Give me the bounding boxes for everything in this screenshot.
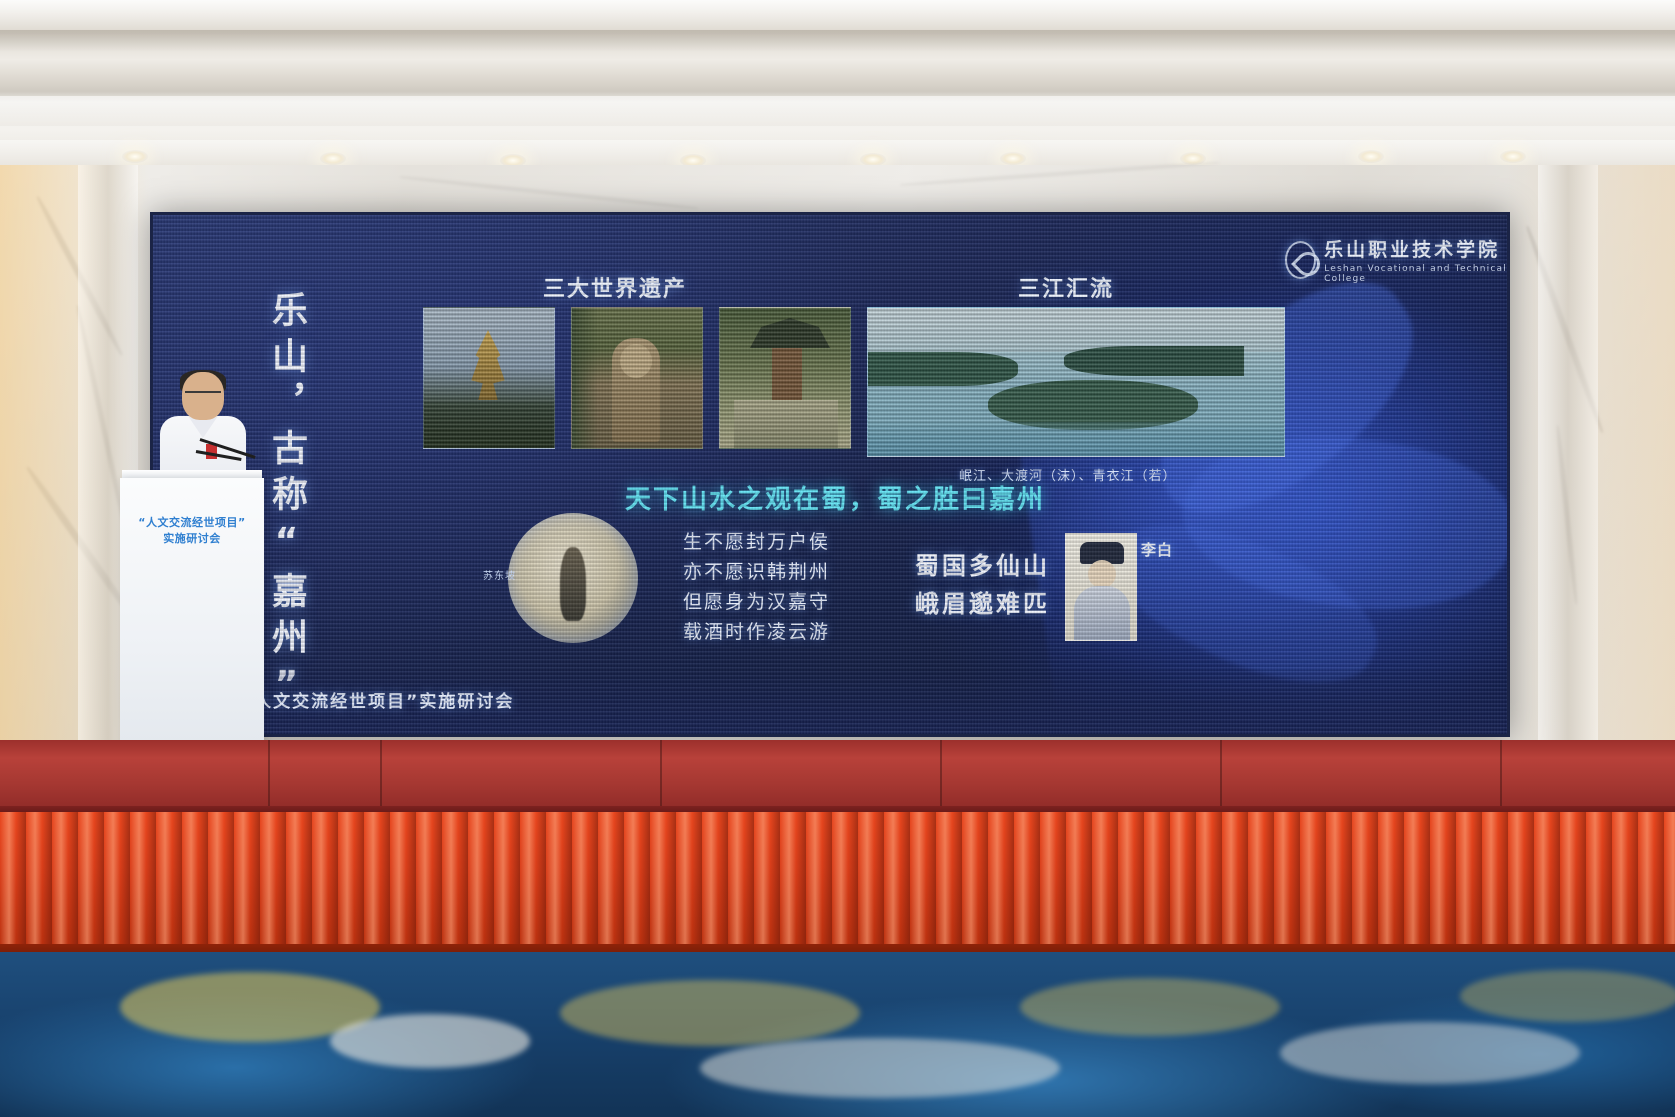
poem-line-2: 亦不愿识韩荆州 <box>683 557 830 587</box>
skirt-pleat <box>910 812 936 952</box>
skirt-pleat <box>936 812 962 952</box>
skirt-pleat <box>1274 812 1300 952</box>
carpet <box>0 952 1675 1117</box>
skirt-pleat <box>572 812 598 952</box>
slide-highlight-quote: 天下山水之观在蜀，蜀之胜曰嘉州 <box>625 479 1095 516</box>
skirt-pleat <box>234 812 260 952</box>
skirt-pleat <box>208 812 234 952</box>
skirt-pleat <box>1482 812 1508 952</box>
skirt-pleat <box>1248 812 1274 952</box>
skirt-pleat <box>1560 812 1586 952</box>
skirt-pleat <box>78 812 104 952</box>
ceiling-light <box>1000 152 1026 165</box>
skirt-pleat <box>1040 812 1066 952</box>
college-logo: 乐山职业技术学院 Leshan Vocational and Technical… <box>1285 235 1507 284</box>
skirt-pleat <box>1586 812 1612 952</box>
skirt-pleat <box>52 812 78 952</box>
skirt-pleat <box>156 812 182 952</box>
ceiling-light <box>1358 150 1384 163</box>
skirt-pleat <box>1352 812 1378 952</box>
couplet-block: 蜀国多仙山 峨眉邈难匹 <box>915 547 1050 623</box>
poem-line-1: 生不愿封万户侯 <box>683 527 830 557</box>
poem-block: 生不愿封万户侯 亦不愿识韩荆州 但愿身为汉嘉守 载酒时作凌云游 <box>683 527 830 647</box>
skirt-pleat <box>650 812 676 952</box>
skirt-pleat <box>130 812 156 952</box>
skirt-pleat <box>806 812 832 952</box>
portrait-left-label: 苏东坡 <box>483 567 516 582</box>
skirt-pleat <box>1638 812 1664 952</box>
skirt-pleat <box>702 812 728 952</box>
skirt-pleat <box>1378 812 1404 952</box>
couplet-line-2: 峨眉邈难匹 <box>915 585 1050 623</box>
skirt-pleat <box>676 812 702 952</box>
wall-pillar-right <box>1538 165 1598 765</box>
skirt-pleat <box>1456 812 1482 952</box>
skirt-pleat <box>1066 812 1092 952</box>
skirt-pleat <box>1092 812 1118 952</box>
skirt-pleat <box>1534 812 1560 952</box>
podium-sign: “人文交流经世项目” 实施研讨会 <box>137 515 247 547</box>
logo-chinese-name: 乐山职业技术学院 <box>1324 235 1507 262</box>
skirt-pleat <box>598 812 624 952</box>
skirt-pleat <box>416 812 442 952</box>
li-bai-robe <box>1074 586 1130 641</box>
poem-line-4: 载酒时作凌云游 <box>683 617 830 647</box>
photo-emei-golden-summit <box>423 307 555 449</box>
skirt-pleat <box>858 812 884 952</box>
skirt-pleat <box>1430 812 1456 952</box>
ceiling-light <box>320 152 346 165</box>
skirt-pleat <box>988 812 1014 952</box>
skirt-pleat <box>728 812 754 952</box>
portrait-li-bai <box>1065 533 1137 641</box>
ceiling-light <box>122 150 148 163</box>
skirt-pleat <box>338 812 364 952</box>
skirt-pleat <box>1404 812 1430 952</box>
stage-skirt <box>0 812 1675 952</box>
skirt-pleat <box>312 812 338 952</box>
skirt-pleat <box>832 812 858 952</box>
skirt-pleat <box>1170 812 1196 952</box>
stage-platform <box>0 740 1675 812</box>
section-header-heritage: 三大世界遗产 <box>543 271 687 303</box>
skirt-pleat <box>884 812 910 952</box>
skirt-pleat <box>1326 812 1352 952</box>
skirt-pleat <box>26 812 52 952</box>
skirt-pleat <box>1222 812 1248 952</box>
couplet-author-label: 李白 <box>1141 539 1173 560</box>
skirt-pleat <box>1118 812 1144 952</box>
skirt-pleat <box>494 812 520 952</box>
scene-root: 乐山职业技术学院 Leshan Vocational and Technical… <box>0 0 1675 1117</box>
skirt-pleat <box>1196 812 1222 952</box>
skirt-pleat <box>286 812 312 952</box>
skirt-pleat <box>624 812 650 952</box>
photo-leshan-giant-buddha <box>571 307 703 449</box>
ceiling-light <box>1500 150 1526 163</box>
skirt-pleat <box>962 812 988 952</box>
skirt-pleat <box>1664 812 1675 952</box>
skirt-pleat <box>0 812 26 952</box>
logo-english-name: Leshan Vocational and Technical College <box>1324 264 1507 284</box>
skirt-pleat <box>1508 812 1534 952</box>
slide-footer-text: “人文交流经世项目”实施研讨会 <box>241 687 514 712</box>
skirt-pleat <box>442 812 468 952</box>
skirt-pleat <box>1144 812 1170 952</box>
skirt-pleat <box>104 812 130 952</box>
skirt-pleat <box>520 812 546 952</box>
skirt-pleat <box>468 812 494 952</box>
photo-heritage-corridor <box>719 307 851 449</box>
led-presentation-screen[interactable]: 乐山职业技术学院 Leshan Vocational and Technical… <box>150 212 1510 737</box>
photo-three-rivers-confluence <box>867 307 1285 457</box>
skirt-pleat <box>182 812 208 952</box>
couplet-line-1: 蜀国多仙山 <box>915 547 1050 585</box>
podium-sign-line-1: “人文交流经世项目” <box>137 515 247 531</box>
skirt-pleat <box>754 812 780 952</box>
skirt-pleat <box>1014 812 1040 952</box>
portrait-su-dongpo <box>508 513 638 643</box>
section-header-rivers: 三江汇流 <box>1018 271 1114 303</box>
swirl-logo-icon <box>1285 241 1316 279</box>
skirt-pleat <box>364 812 390 952</box>
glasses-icon <box>185 391 221 400</box>
skirt-pleat <box>390 812 416 952</box>
li-bai-face <box>1088 560 1116 588</box>
poem-line-3: 但愿身为汉嘉守 <box>683 587 830 617</box>
skirt-pleat <box>1612 812 1638 952</box>
skirt-pleat <box>260 812 286 952</box>
podium-sign-line-2: 实施研讨会 <box>137 531 247 547</box>
ceiling <box>0 0 1675 176</box>
skirt-pleat <box>780 812 806 952</box>
skirt-pleat <box>1300 812 1326 952</box>
skirt-pleat <box>546 812 572 952</box>
